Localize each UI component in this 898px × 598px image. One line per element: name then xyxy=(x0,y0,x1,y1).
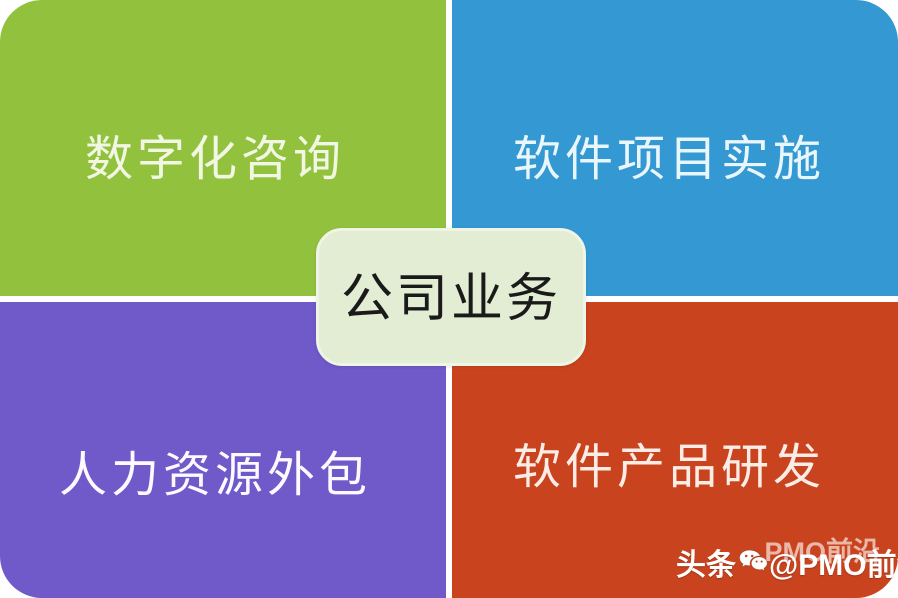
quadrant-bottom-right-label: 软件产品研发 xyxy=(513,444,825,492)
center-hub[interactable]: 公司业务 xyxy=(316,228,586,366)
diagram-canvas: 数字化咨询 软件项目实施 人力资源外包 软件产品研发 公司业务 PMO前沿 头条 xyxy=(0,0,898,598)
quadrant-bottom-left-label: 人力资源外包 xyxy=(59,452,371,500)
quadrant-top-right-label: 软件项目实施 xyxy=(513,136,825,184)
center-hub-label: 公司业务 xyxy=(341,273,561,325)
quadrant-top-left-label: 数字化咨询 xyxy=(85,136,345,184)
